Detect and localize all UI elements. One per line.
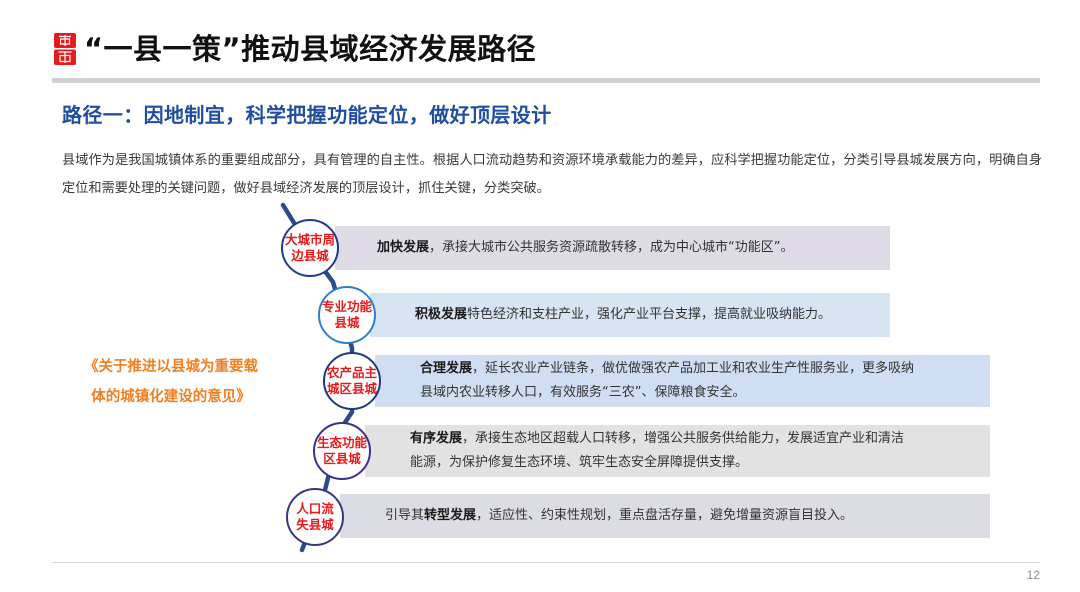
category-bar-4: 有序发展，承接生态地区超载人口转移，增强公共服务供给能力，发展适宜产业和清洁 能… bbox=[365, 425, 990, 477]
slide-root: “一县一策”推动县域经济发展路径 路径一：因地制宜，科学把握功能定位，做好顶层设… bbox=[0, 0, 1080, 592]
category-bar-5-text: 引导其转型发展，适应性、约束性规划，重点盘活存量，避免增量资源盲目投入。 bbox=[385, 504, 853, 528]
category-bar-1: 加快发展，承接大城市公共服务资源疏散转移，成为中心城市“功能区”。 bbox=[335, 226, 890, 270]
category-bar-2: 积极发展特色经济和支柱产业，强化产业平台支撑，提高就业吸纳能力。 bbox=[370, 293, 890, 337]
category-bar-2-body: 特色经济和支柱产业，强化产业平台支撑，提高就业吸纳能力。 bbox=[467, 307, 831, 322]
category-node-1-label-line1: 大城市周 bbox=[285, 232, 335, 248]
category-bar-4-body-1: ，承接生态地区超载人口转移，增强公共服务供给能力，发展适宜产业和清洁 bbox=[462, 431, 904, 446]
footer-divider bbox=[52, 562, 1040, 563]
category-bar-4-lead: 有序发展 bbox=[410, 431, 462, 446]
category-node-2[interactable]: 专业功能 县城 bbox=[318, 286, 376, 344]
category-bar-3: 合理发展，延长农业产业链条，做优做强农产品加工业和农业生产性服务业，更多吸纳 县… bbox=[375, 355, 990, 407]
category-bar-3-body-2: 县域内农业转移人口，有效服务“三农”、保障粮食安全。 bbox=[420, 381, 914, 405]
category-bar-4-text: 有序发展，承接生态地区超载人口转移，增强公共服务供给能力，发展适宜产业和清洁 能… bbox=[410, 427, 904, 475]
category-bar-5-lead: 转型发展 bbox=[424, 508, 476, 523]
category-node-5[interactable]: 人口流 失县城 bbox=[286, 488, 344, 546]
category-bar-1-lead: 加快发展 bbox=[377, 240, 429, 255]
category-node-2-label-line1: 专业功能 bbox=[322, 299, 372, 315]
category-node-4-label-line1: 生态功能 bbox=[317, 435, 367, 451]
category-bar-5: 引导其转型发展，适应性、约束性规划，重点盘活存量，避免增量资源盲目投入。 bbox=[340, 494, 990, 538]
category-bar-3-text: 合理发展，延长农业产业链条，做优做强农产品加工业和农业生产性服务业，更多吸纳 县… bbox=[420, 357, 914, 405]
category-node-2-label: 专业功能 县城 bbox=[322, 299, 372, 331]
category-node-5-label: 人口流 失县城 bbox=[296, 501, 334, 533]
category-node-4-label: 生态功能 区县城 bbox=[317, 435, 367, 467]
category-bar-5-body: ，适应性、约束性规划，重点盘活存量，避免增量资源盲目投入。 bbox=[476, 508, 853, 523]
category-node-4-label-line2: 区县城 bbox=[317, 451, 367, 467]
classification-diagram: 加快发展，承接大城市公共服务资源疏散转移，成为中心城市“功能区”。 大城市周 边… bbox=[0, 0, 1080, 592]
category-node-1-label: 大城市周 边县城 bbox=[285, 232, 335, 264]
category-node-1-label-line2: 边县城 bbox=[285, 248, 335, 264]
category-node-3-label-line1: 农产品主 bbox=[327, 365, 377, 381]
category-node-3-label: 农产品主 城区县城 bbox=[327, 365, 377, 397]
category-bar-1-body: ，承接大城市公共服务资源疏散转移，成为中心城市“功能区”。 bbox=[429, 240, 793, 255]
category-node-3[interactable]: 农产品主 城区县城 bbox=[323, 352, 381, 410]
category-node-4[interactable]: 生态功能 区县城 bbox=[313, 422, 371, 480]
page-number: 12 bbox=[1027, 568, 1040, 582]
category-bar-2-text: 积极发展特色经济和支柱产业，强化产业平台支撑，提高就业吸纳能力。 bbox=[415, 303, 831, 327]
category-node-1[interactable]: 大城市周 边县城 bbox=[281, 219, 339, 277]
category-bar-2-lead: 积极发展 bbox=[415, 307, 467, 322]
category-bar-5-prefix: 引导其 bbox=[385, 508, 424, 523]
category-bar-3-lead: 合理发展 bbox=[420, 361, 472, 376]
category-node-3-label-line2: 城区县城 bbox=[327, 381, 377, 397]
category-node-5-label-line2: 失县城 bbox=[296, 517, 334, 533]
category-bar-3-body-1: ，延长农业产业链条，做优做强农产品加工业和农业生产性服务业，更多吸纳 bbox=[472, 361, 914, 376]
category-bar-4-body-2: 能源，为保护修复生态环境、筑牢生态安全屏障提供支撑。 bbox=[410, 451, 904, 475]
category-node-5-label-line1: 人口流 bbox=[296, 501, 334, 517]
category-bar-1-text: 加快发展，承接大城市公共服务资源疏散转移，成为中心城市“功能区”。 bbox=[377, 236, 794, 260]
category-node-2-label-line2: 县城 bbox=[322, 315, 372, 331]
